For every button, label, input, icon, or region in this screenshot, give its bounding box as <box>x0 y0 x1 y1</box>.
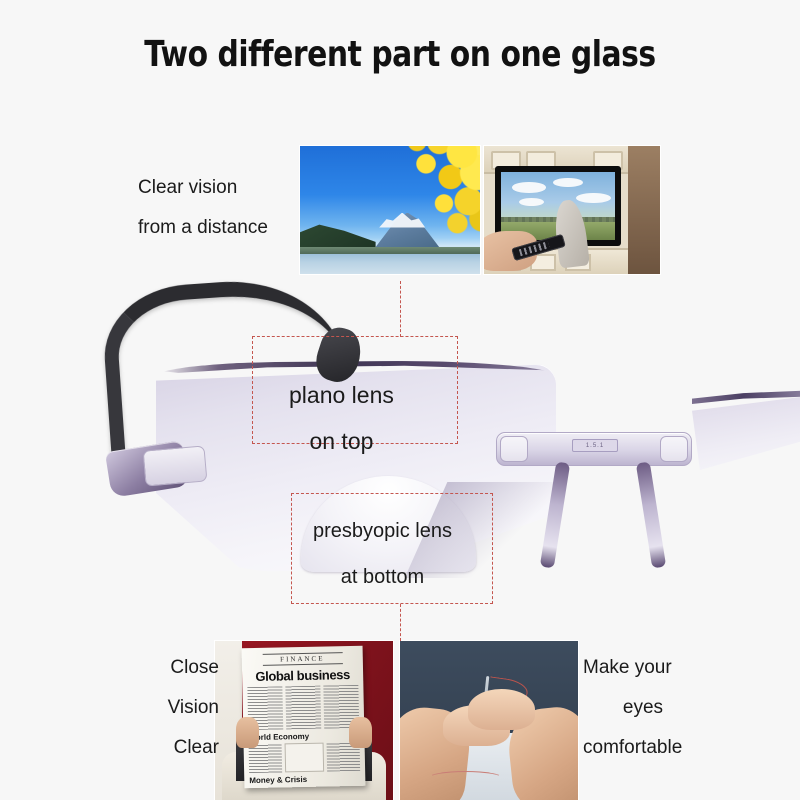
poster-canvas: Two different part on one glass <box>0 0 800 800</box>
bridge-marking: 1.5.1 <box>572 439 618 452</box>
label-line-1: plano lens <box>289 372 394 418</box>
page-title: Two different part on one glass <box>32 34 768 75</box>
stock-chart <box>285 743 324 772</box>
label-line-2: on top <box>289 418 394 464</box>
nose-pad-right <box>636 462 666 569</box>
photo-watching-tv <box>484 146 660 274</box>
fingertip <box>468 689 536 730</box>
photo-mount-fuji <box>300 146 480 274</box>
newspaper-masthead: FINANCE <box>263 653 343 667</box>
newspaper-headline: Global business <box>247 667 358 684</box>
connector-line-top <box>400 281 401 337</box>
newspaper: FINANCE Global business World Economy Mo… <box>242 646 366 788</box>
ginkgo-foliage <box>379 146 480 243</box>
label-line-2: eyes <box>583 688 703 728</box>
label-clear-vision-from-a-distance: Clear vision from a distance <box>138 168 268 248</box>
newspaper-subhead-1: World Economy <box>249 732 360 743</box>
hand-right <box>349 717 372 747</box>
label-line-3: Clear <box>124 728 219 768</box>
label-line-2: from a distance <box>138 208 268 248</box>
hinge-clip <box>143 445 208 486</box>
label-line-1: Make your <box>583 648 703 688</box>
label-line-2: Vision <box>124 688 219 728</box>
label-line-2: at bottom <box>313 554 452 600</box>
photo-needle-and-thread <box>400 641 578 800</box>
article-columns <box>249 743 361 773</box>
label-make-your-eyes-comfortable: Make your eyes comfortable <box>583 648 703 768</box>
label-line-1: Clear vision <box>138 168 268 208</box>
lake <box>300 254 480 274</box>
label-close-vision-clear: Close Vision Clear <box>124 648 219 768</box>
photo-newspaper: FINANCE Global business World Economy Mo… <box>215 641 393 800</box>
label-line-1: Close <box>124 648 219 688</box>
loose-thread <box>428 771 503 785</box>
newspaper-subhead-2: Money & Crisis <box>250 774 361 785</box>
connector-line-bottom <box>400 604 401 641</box>
label-plano-lens-on-top: plano lens on top <box>289 372 394 464</box>
label-presbyopic-lens-at-bottom: presbyopic lens at bottom <box>313 508 452 600</box>
right-lens <box>692 394 800 470</box>
hand-left <box>236 717 259 747</box>
article-columns <box>248 685 360 731</box>
stone-column <box>628 146 660 274</box>
label-line-3: comfortable <box>583 728 703 768</box>
label-line-1: presbyopic lens <box>313 508 452 554</box>
